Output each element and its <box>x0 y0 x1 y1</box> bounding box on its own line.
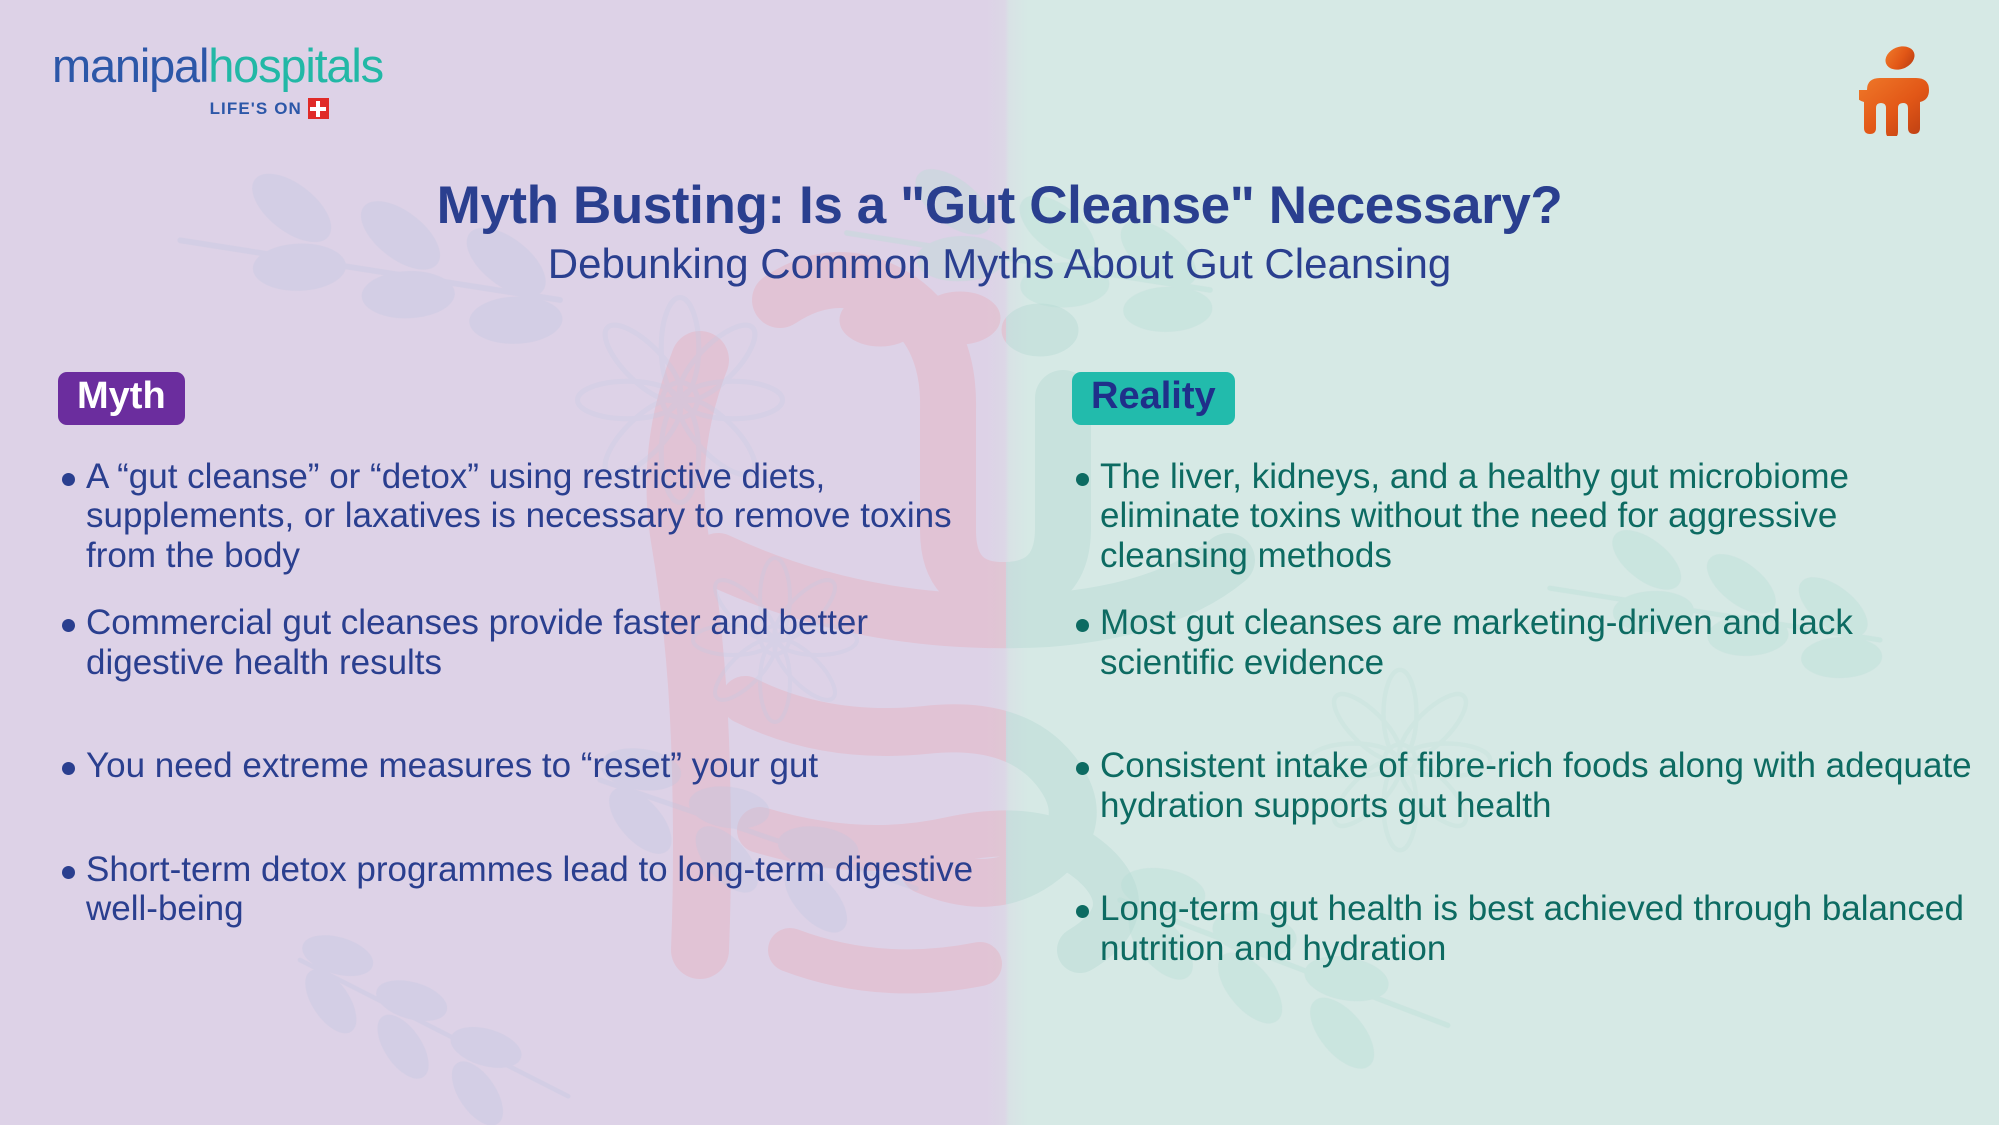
reality-list: The liver, kidneys, and a healthy gut mi… <box>1072 457 1982 969</box>
bullet-icon <box>1076 473 1089 486</box>
bullet-icon <box>62 762 75 775</box>
myth-item-text: Commercial gut cleanses provide faster a… <box>86 603 988 682</box>
list-item: Long-term gut health is best achieved th… <box>1072 889 1982 968</box>
list-item: Consistent intake of fibre-rich foods al… <box>1072 746 1982 825</box>
reality-item-text: The liver, kidneys, and a healthy gut mi… <box>1100 457 1982 576</box>
list-item: Commercial gut cleanses provide faster a… <box>58 603 988 682</box>
list-item: A “gut cleanse” or “detox” using restric… <box>58 457 988 576</box>
myth-badge: Myth <box>58 372 185 425</box>
background-seam <box>986 0 1028 1125</box>
reality-badge: Reality <box>1072 372 1235 425</box>
manipal-hospitals-logo: manipalhospitals LIFE'S ON <box>52 42 383 119</box>
page-title: Myth Busting: Is a "Gut Cleanse" Necessa… <box>0 175 1999 236</box>
bullet-icon <box>1076 905 1089 918</box>
bullet-icon <box>62 619 75 632</box>
logo-word-manipal: manipal <box>52 39 208 92</box>
bullet-icon <box>1076 762 1089 775</box>
myth-list: A “gut cleanse” or “detox” using restric… <box>58 457 988 929</box>
reality-item-text: Long-term gut health is best achieved th… <box>1100 889 1982 968</box>
myth-column: Myth A “gut cleanse” or “detox” using re… <box>58 372 988 959</box>
logo-wordmark: manipalhospitals <box>52 42 383 89</box>
infographic-canvas: manipalhospitals LIFE'S ON Myth Busting:… <box>0 0 1999 1125</box>
list-item: The liver, kidneys, and a healthy gut mi… <box>1072 457 1982 576</box>
myth-item-text: A “gut cleanse” or “detox” using restric… <box>86 457 988 576</box>
bullet-icon <box>62 866 75 879</box>
medical-cross-icon <box>308 98 329 119</box>
reality-item-text: Consistent intake of fibre-rich foods al… <box>1100 746 1982 825</box>
myth-item-text: You need extreme measures to “reset” you… <box>86 746 818 786</box>
myth-item-text: Short-term detox programmes lead to long… <box>86 850 988 929</box>
logo-tagline-row: LIFE'S ON <box>52 98 383 119</box>
reality-item-text: Most gut cleanses are marketing-driven a… <box>1100 603 1982 682</box>
page-subtitle: Debunking Common Myths About Gut Cleansi… <box>0 240 1999 288</box>
logo-tagline: LIFE'S ON <box>210 99 302 119</box>
reality-column: Reality The liver, kidneys, and a health… <box>1072 372 1982 998</box>
bullet-icon <box>1076 619 1089 632</box>
list-item: You need extreme measures to “reset” you… <box>58 746 988 786</box>
list-item: Short-term detox programmes lead to long… <box>58 850 988 929</box>
list-item: Most gut cleanses are marketing-driven a… <box>1072 603 1982 682</box>
logo-word-hospitals: hospitals <box>208 39 383 92</box>
bullet-icon <box>62 473 75 486</box>
manipal-figure-mark-icon <box>1859 44 1937 136</box>
